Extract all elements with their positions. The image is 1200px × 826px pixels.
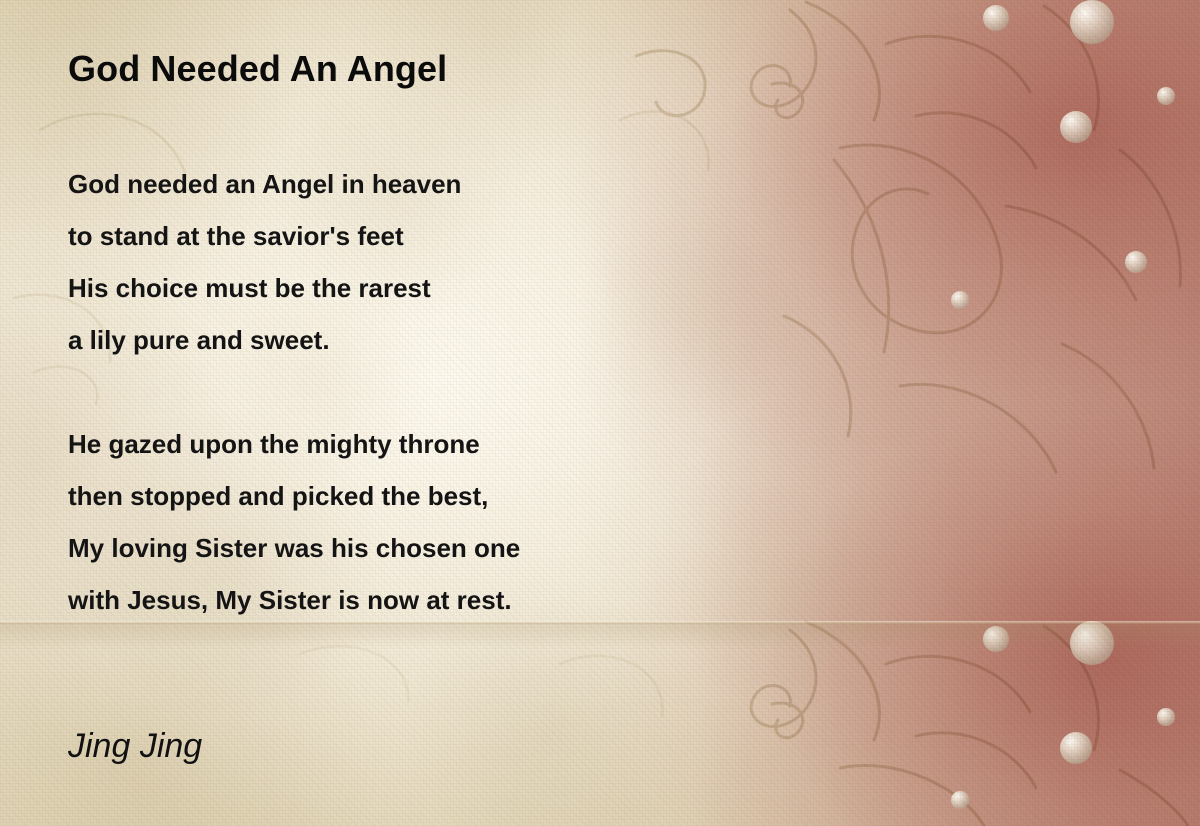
poem-line: then stopped and picked the best, [68, 470, 848, 522]
poem-body: God needed an Angel in heaven to stand a… [68, 158, 848, 626]
poem-author: Jing Jing [68, 727, 202, 766]
poem-line: to stand at the savior's feet [68, 210, 848, 262]
stanza: He gazed upon the mighty throne then sto… [68, 418, 848, 626]
stanza: God needed an Angel in heaven to stand a… [68, 158, 848, 366]
poem-line: with Jesus, My Sister is now at rest. [68, 574, 848, 626]
poem-line: He gazed upon the mighty throne [68, 418, 848, 470]
poem-line: a lily pure and sweet. [68, 314, 848, 366]
poem-line: God needed an Angel in heaven [68, 158, 848, 210]
poem-content: God Needed An Angel God needed an Angel … [0, 0, 1200, 826]
poem-line: My loving Sister was his chosen one [68, 522, 848, 574]
poem-card: God Needed An Angel God needed an Angel … [0, 0, 1200, 826]
poem-title: God Needed An Angel [68, 48, 447, 90]
poem-line: His choice must be the rarest [68, 262, 848, 314]
